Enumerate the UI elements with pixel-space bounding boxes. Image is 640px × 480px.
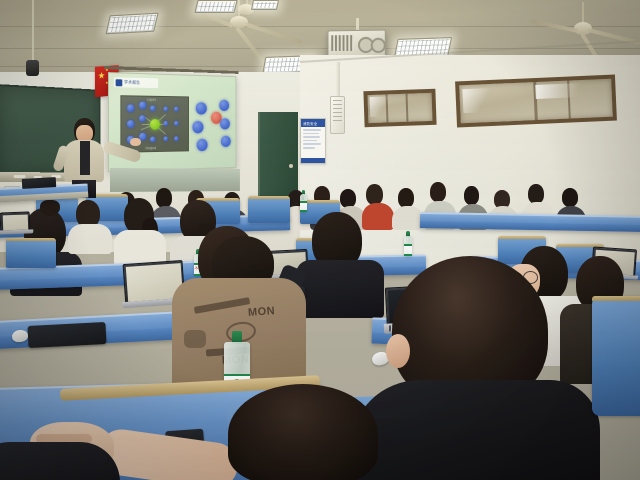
slide-panel-caption-top: Layer [147,98,156,102]
seat-back-foreground-right [592,296,640,416]
hanging-cable [32,0,34,68]
student-foreground-left-shoulder [0,442,120,480]
fluorescent-light-1 [105,13,158,34]
slide-logo-mark [116,79,123,86]
diagram-node [150,137,155,143]
instructor-inner-shirt [80,141,90,175]
poster-body [301,127,325,153]
window-right [455,75,617,128]
slide-logo-text: 学术报告 [124,79,140,85]
slide-logo: 学术报告 [114,77,158,88]
student-body [68,224,112,254]
bottle-label [404,244,412,256]
wall-conduit [336,62,340,98]
diagram-node [127,104,134,112]
ear [386,334,410,368]
hanging-speaker [26,60,39,76]
diagram-node [164,136,168,141]
instructor-hand [130,138,141,146]
diagram-node [164,121,168,126]
slide-cluster-node [192,121,203,133]
slide-cluster-node [219,100,229,111]
hair-bun [40,200,60,216]
diagram-node [164,107,168,112]
student-body [350,380,600,480]
door-knob-icon[interactable] [289,164,293,168]
poster-header: 消防安全 [301,119,325,127]
diagram-node [127,120,134,128]
diagram-node [174,136,178,141]
slide-cluster-node [220,118,230,129]
shirt-graphic-patch [184,330,206,348]
wall-control-box[interactable] [330,96,345,134]
window-left [363,89,436,127]
classroom-scene: ★ ★ ★ ★ ★ 学术报告 Layer Output [0,0,640,480]
slide-cluster-node [221,136,231,147]
fluorescent-light-5 [251,0,279,10]
student-head [228,384,378,480]
slide-panel-caption-bottom: Output [145,146,156,150]
diagram-center-node [150,119,160,130]
poster-header-text: 消防安全 [301,119,325,126]
diagram-node [174,107,178,112]
shirt-text-top: MON [248,305,276,319]
podium-monitor [22,177,56,189]
water-bottle[interactable] [300,194,307,212]
slide-cluster-node [196,102,207,114]
diagram-node [174,121,178,126]
seat-back [6,238,56,268]
laptop[interactable] [0,211,30,234]
diagram-node [150,105,155,111]
diagram-node [139,101,146,109]
slide-cluster-node [197,139,208,151]
tablet[interactable] [27,322,106,348]
diagram-node [139,115,145,122]
safety-notice-poster: 消防安全 [300,118,326,164]
fluorescent-light-2 [194,0,237,13]
water-bottle[interactable] [404,236,412,256]
bottle-label [300,201,307,212]
